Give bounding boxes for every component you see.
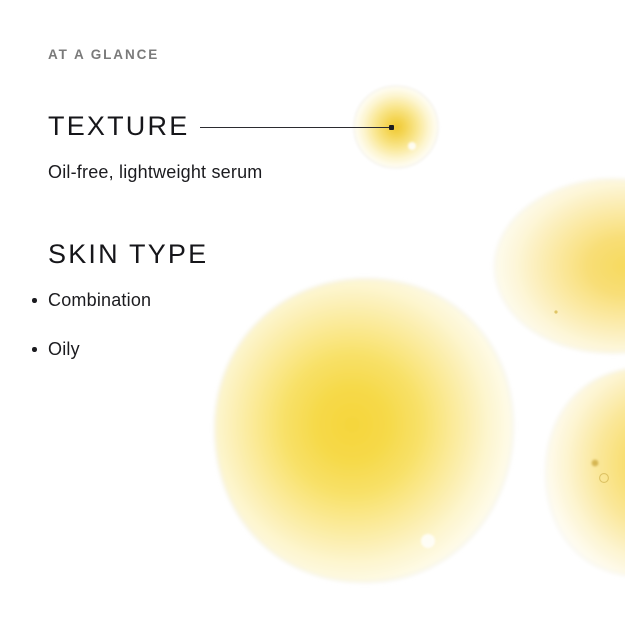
- list-item: Oily: [32, 339, 151, 360]
- text-content: AT A GLANCE TEXTURE Oil-free, lightweigh…: [0, 0, 625, 625]
- skin-type-list: Combination Oily: [32, 290, 151, 388]
- bullet-icon: [32, 347, 37, 352]
- at-a-glance-panel: AT A GLANCE TEXTURE Oil-free, lightweigh…: [0, 0, 625, 625]
- skin-type-heading: SKIN TYPE: [48, 241, 208, 268]
- texture-callout-dot: [389, 125, 394, 130]
- texture-heading: TEXTURE: [48, 113, 189, 140]
- skin-type-item-label: Combination: [48, 290, 151, 310]
- bullet-icon: [32, 298, 37, 303]
- section-eyebrow-label: AT A GLANCE: [48, 47, 159, 62]
- texture-description: Oil-free, lightweight serum: [48, 162, 262, 183]
- list-item: Combination: [32, 290, 151, 311]
- texture-callout-line: [200, 127, 391, 128]
- skin-type-item-label: Oily: [48, 339, 80, 359]
